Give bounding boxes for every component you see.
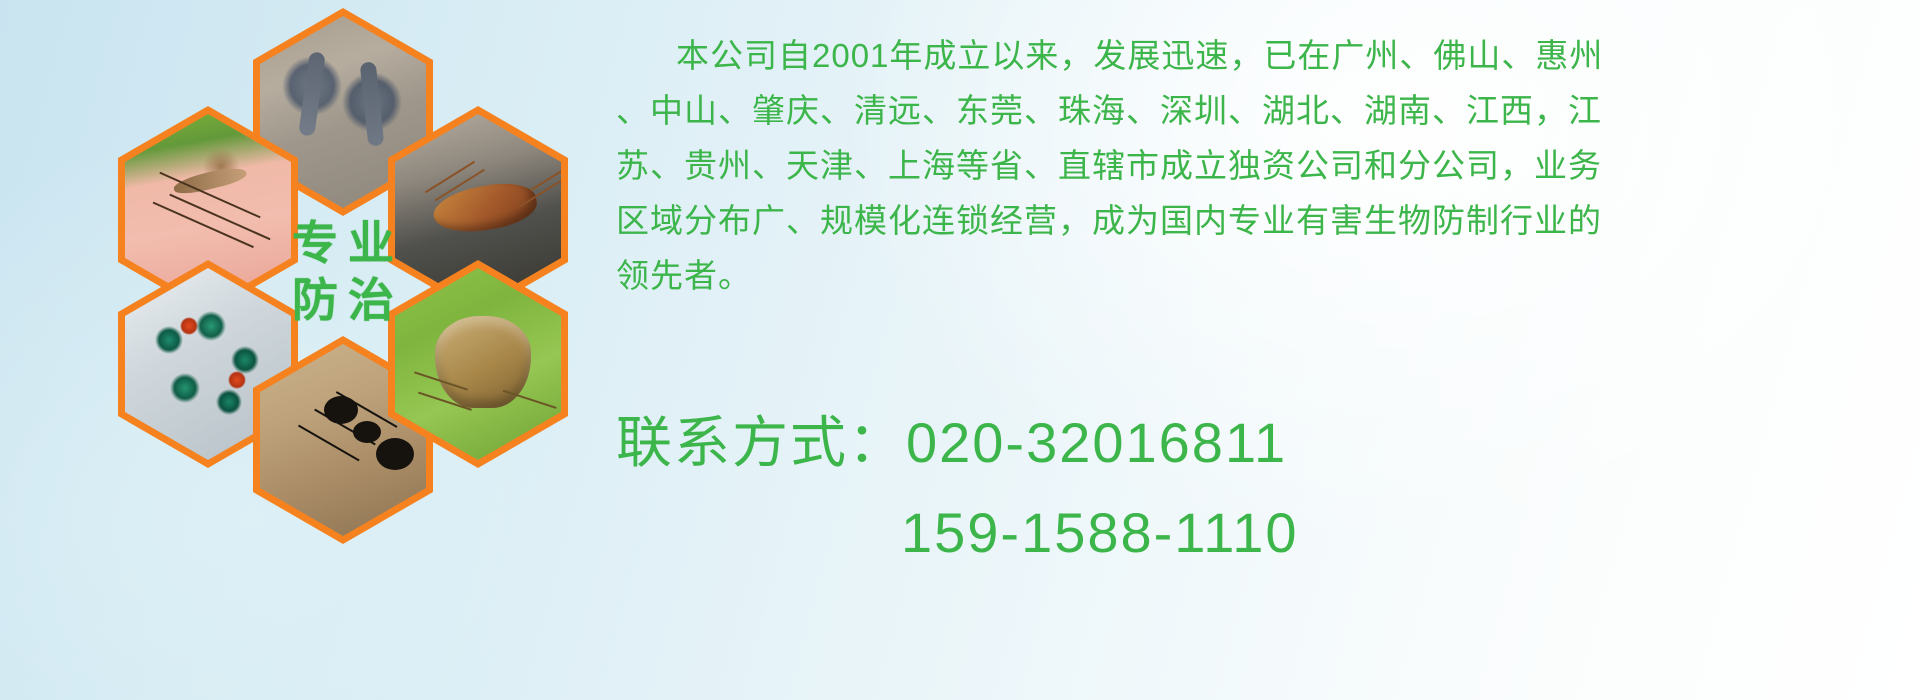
intro-line-2: 、中山、肇庆、清远、东莞、珠海、深圳、湖北、湖南、江西，江 (616, 83, 1906, 138)
contact-phone-landline[interactable]: 联系方式：020-32016811 (616, 398, 1906, 488)
hex-slogan-frame: 专业 防治 (260, 176, 426, 368)
intro-line-3: 苏、贵州、天津、上海等省、直辖市成立独资公司和分公司，业务 (616, 138, 1906, 193)
honeycomb-logo: 专业 防治 (88, 0, 608, 588)
intro-line-4: 区域分布广、规模化连锁经营，成为国内专业有害生物防制行业的 (616, 193, 1906, 248)
contact-phone-mobile[interactable]: 159-1588-1110 (616, 488, 1906, 578)
intro-line-1: 本公司自2001年成立以来，发展迅速，已在广州、佛山、惠州 (616, 28, 1906, 83)
contact-block: 联系方式：020-32016811 159-1588-1110 (616, 398, 1906, 578)
company-intro: 本公司自2001年成立以来，发展迅速，已在广州、佛山、惠州 、中山、肇庆、清远、… (616, 28, 1906, 303)
slogan-line-2: 防治 (282, 272, 404, 330)
promo-banner: 专业 防治 本公司自2001年成立以来，发展迅速，已在广州、佛山、惠州 、中山、… (0, 0, 1920, 700)
slogan-line-1: 专业 (282, 215, 404, 273)
intro-line-5: 领先者。 (616, 248, 1906, 303)
